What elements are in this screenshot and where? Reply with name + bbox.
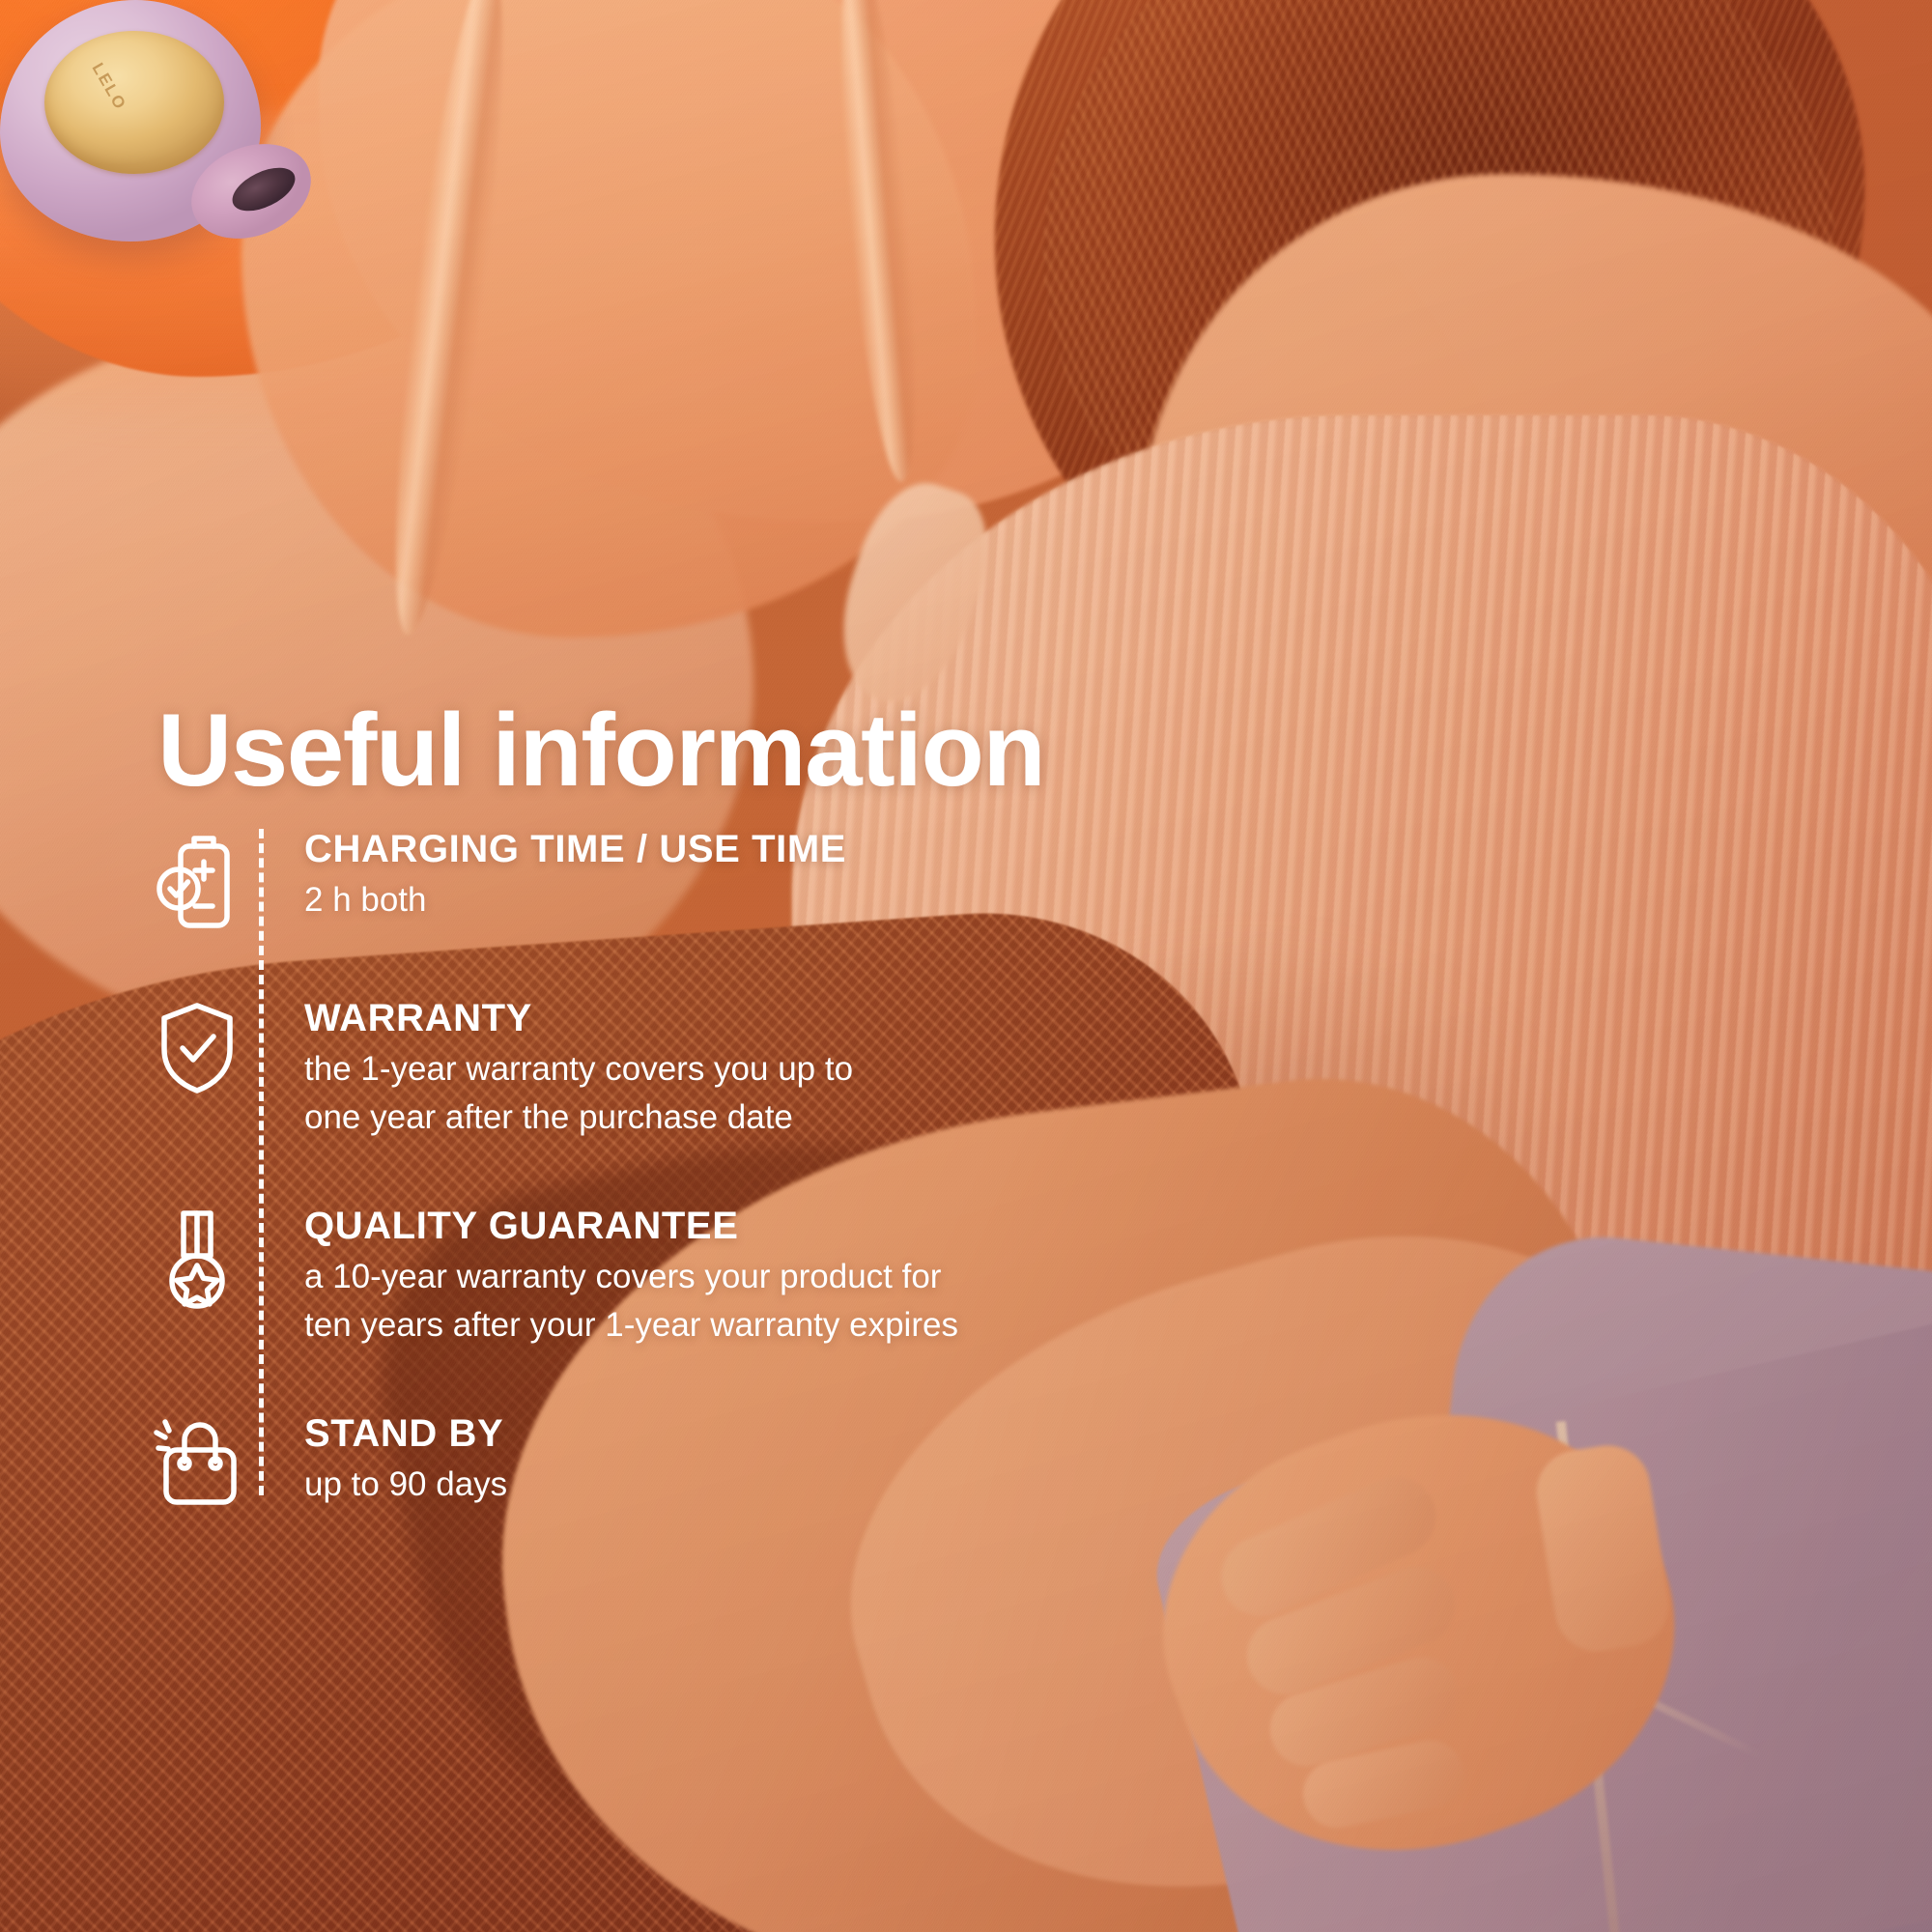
- list-item-text: WARRANTY the 1-year warranty covers you …: [304, 998, 853, 1142]
- content-overlay: Useful information CHARGING TIME / U: [0, 0, 1932, 1932]
- list-item-title: CHARGING TIME / USE TIME: [304, 829, 846, 869]
- list-item-description: the 1-year warranty covers you up to one…: [304, 1045, 853, 1141]
- page-title: Useful information: [157, 696, 1044, 804]
- list-item: QUALITY GUARANTEE a 10-year warranty cov…: [143, 1206, 958, 1350]
- list-item: WARRANTY the 1-year warranty covers you …: [143, 998, 853, 1142]
- list-item: CHARGING TIME / USE TIME 2 h both: [143, 829, 846, 931]
- list-item-title: STAND BY: [304, 1413, 507, 1454]
- list-item-description: up to 90 days: [304, 1461, 507, 1509]
- list-item-text: QUALITY GUARANTEE a 10-year warranty cov…: [304, 1206, 958, 1350]
- handbag-sparkle-icon: [143, 1413, 251, 1510]
- medal-star-icon: [143, 1206, 251, 1316]
- list-item-text: CHARGING TIME / USE TIME 2 h both: [304, 829, 846, 924]
- list-item-description: a 10-year warranty covers your product f…: [304, 1253, 958, 1349]
- list-item-title: WARRANTY: [304, 998, 853, 1038]
- list-item-text: STAND BY up to 90 days: [304, 1413, 507, 1509]
- list-item-title: QUALITY GUARANTEE: [304, 1206, 958, 1246]
- list-item-description: 2 h both: [304, 876, 846, 924]
- battery-check-icon: [143, 829, 251, 931]
- product-info-graphic: LELO Useful information: [0, 0, 1932, 1932]
- list-item: STAND BY up to 90 days: [143, 1413, 507, 1510]
- shield-check-icon: [143, 998, 251, 1096]
